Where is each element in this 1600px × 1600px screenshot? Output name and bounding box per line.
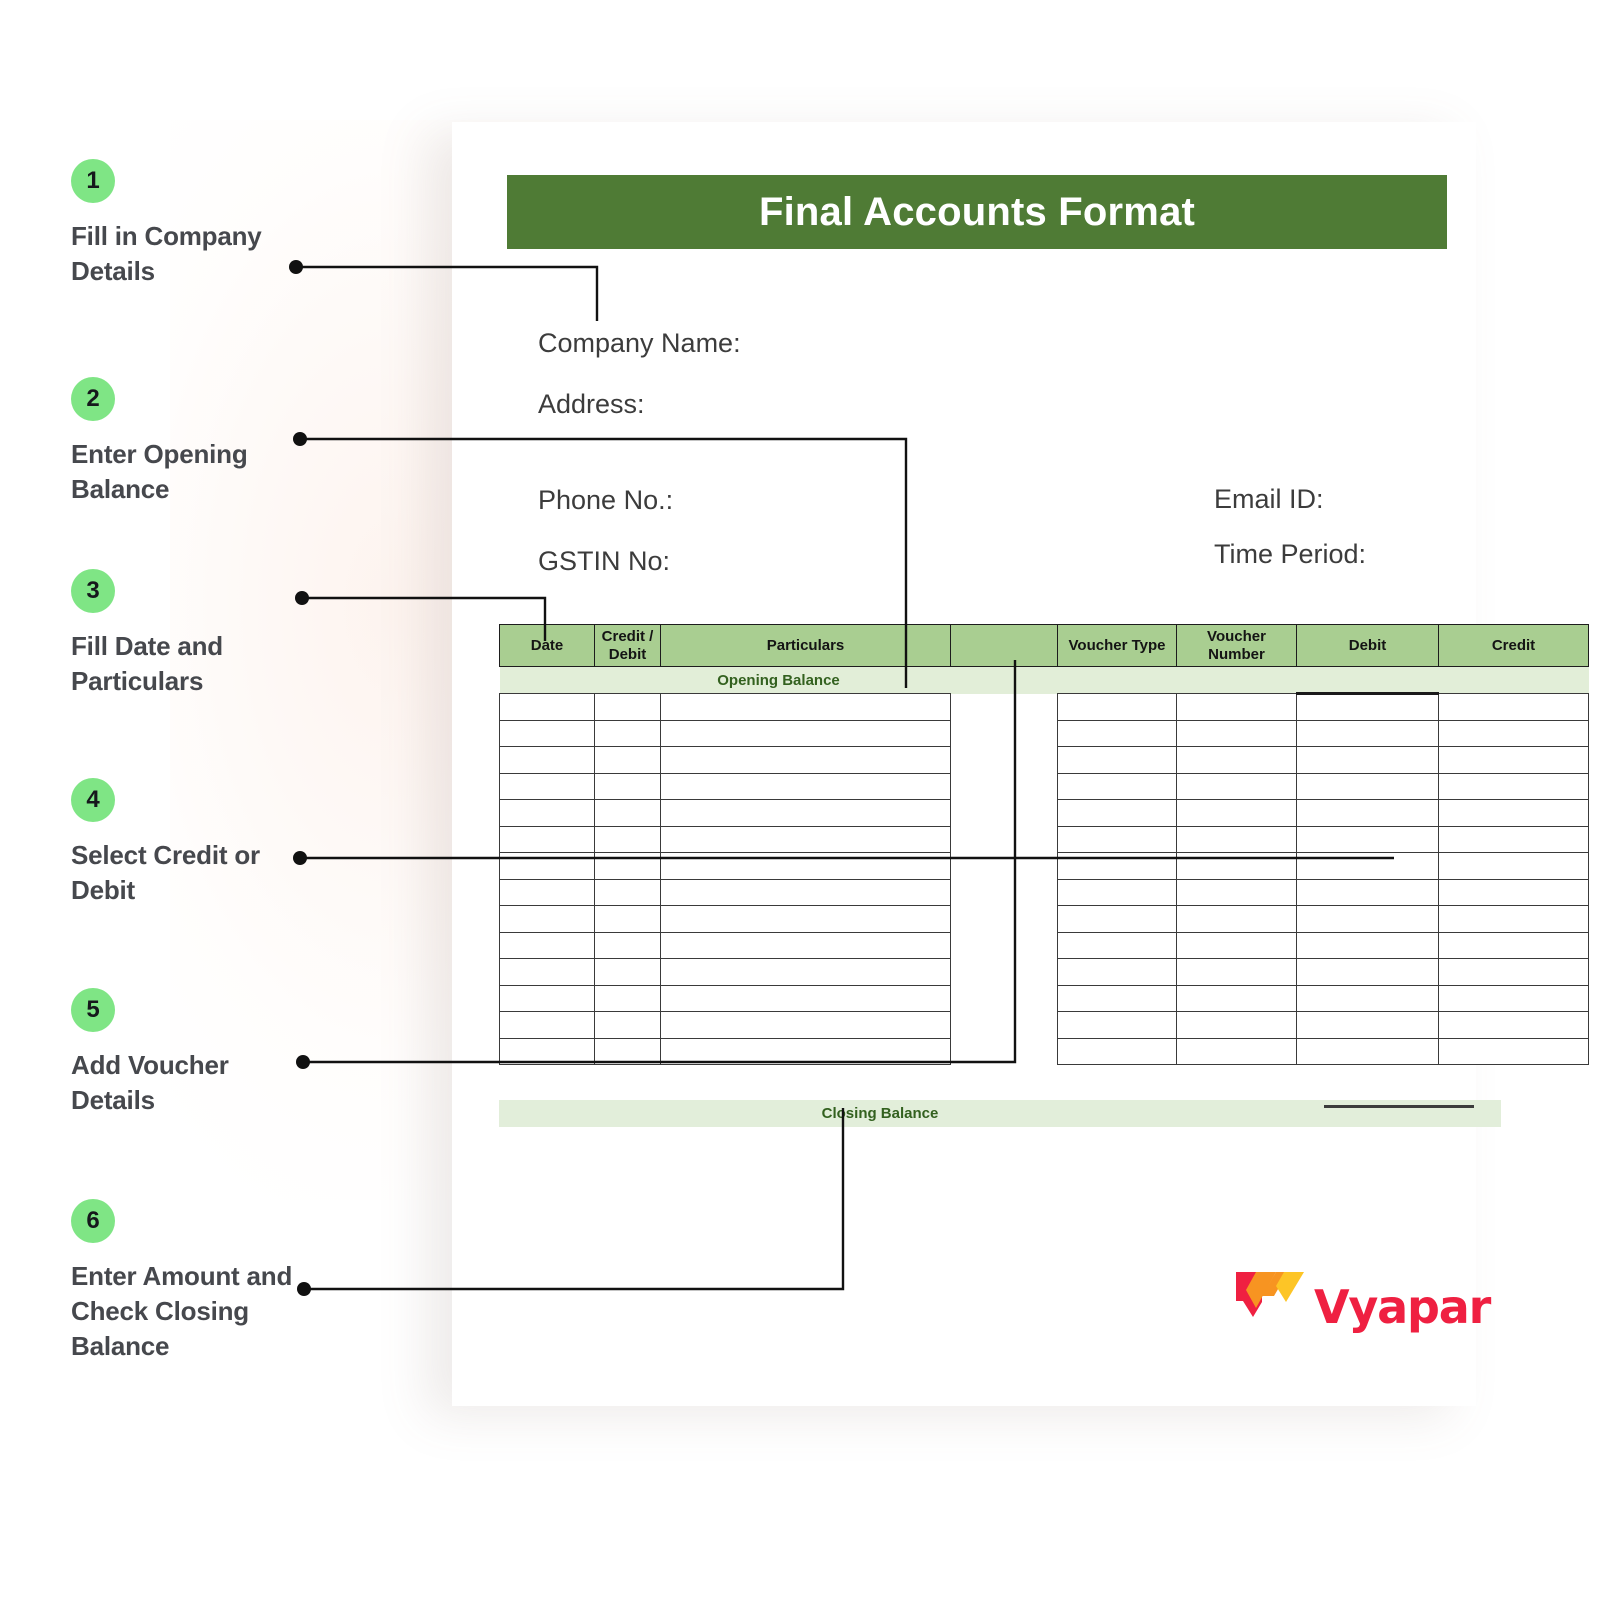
step-label-4: Select Credit or Debit <box>71 838 301 908</box>
cell-voucher-type[interactable] <box>1058 932 1177 959</box>
cell-spacer <box>951 985 1058 1012</box>
cell-voucher-number[interactable] <box>1177 879 1297 906</box>
cell-voucher-type[interactable] <box>1058 747 1177 774</box>
cell-credit[interactable] <box>1439 747 1589 774</box>
cell-credit[interactable] <box>1439 985 1589 1012</box>
step-item-1: 1 Fill in Company Details <box>71 159 371 289</box>
cell-voucher-number[interactable] <box>1177 906 1297 933</box>
table-row <box>500 906 1589 933</box>
step-badge-3: 3 <box>71 569 115 613</box>
cell-voucher-type[interactable] <box>1058 800 1177 827</box>
cell-spacer <box>951 720 1058 747</box>
label-company-name: Company Name: <box>538 328 741 359</box>
cell-date[interactable] <box>500 773 595 800</box>
closing-balance-underline <box>1324 1105 1474 1108</box>
cell-spacer <box>951 932 1058 959</box>
cell-credit[interactable] <box>1439 694 1589 721</box>
column-header-voucher-type: Voucher Type <box>1058 625 1177 667</box>
cell-particulars[interactable] <box>661 959 951 986</box>
label-email-id: Email ID: <box>1214 484 1324 515</box>
cell-voucher-number[interactable] <box>1177 985 1297 1012</box>
cell-credit-debit[interactable] <box>595 932 661 959</box>
cell-spacer <box>951 1038 1058 1065</box>
column-header-credit: Credit <box>1439 625 1589 667</box>
cell-date[interactable] <box>500 879 595 906</box>
label-phone-no: Phone No.: <box>538 485 673 516</box>
table-row <box>500 932 1589 959</box>
ledger-header-row: Date Credit / Debit Particulars Voucher … <box>500 625 1589 667</box>
cell-credit[interactable] <box>1439 879 1589 906</box>
step-label-3: Fill Date and Particulars <box>71 629 301 699</box>
cell-particulars[interactable] <box>661 985 951 1012</box>
column-header-date: Date <box>500 625 595 667</box>
cell-particulars[interactable] <box>661 932 951 959</box>
cell-debit[interactable] <box>1297 879 1439 906</box>
cell-credit-debit[interactable] <box>595 1038 661 1065</box>
cell-spacer <box>951 853 1058 880</box>
cell-credit[interactable] <box>1439 932 1589 959</box>
label-gstin-no: GSTIN No: <box>538 546 670 577</box>
cell-spacer <box>951 826 1058 853</box>
table-row <box>500 985 1589 1012</box>
step-item-6: 6 Enter Amount and Check Closing Balance <box>71 1199 371 1364</box>
cell-voucher-type[interactable] <box>1058 720 1177 747</box>
cell-spacer <box>951 879 1058 906</box>
cell-credit-debit[interactable] <box>595 959 661 986</box>
steps-column: 1 Fill in Company Details 2 Enter Openin… <box>0 0 430 1600</box>
cell-credit-debit[interactable] <box>595 1012 661 1039</box>
cell-particulars[interactable] <box>661 1012 951 1039</box>
cell-debit[interactable] <box>1297 1038 1439 1065</box>
cell-credit-debit[interactable] <box>595 800 661 827</box>
ledger-table: Date Credit / Debit Particulars Voucher … <box>499 624 1589 1065</box>
column-header-spacer <box>951 625 1058 667</box>
cell-date[interactable] <box>500 800 595 827</box>
cell-debit[interactable] <box>1297 932 1439 959</box>
cell-particulars[interactable] <box>661 906 951 933</box>
cell-particulars[interactable] <box>661 1038 951 1065</box>
cell-voucher-number[interactable] <box>1177 853 1297 880</box>
page-title: Final Accounts Format <box>759 190 1195 235</box>
document-title-bar: Final Accounts Format <box>507 175 1447 249</box>
cell-voucher-type[interactable] <box>1058 985 1177 1012</box>
cell-credit-debit[interactable] <box>595 879 661 906</box>
cell-debit[interactable] <box>1297 985 1439 1012</box>
cell-particulars[interactable] <box>661 800 951 827</box>
cell-date[interactable] <box>500 720 595 747</box>
table-row <box>500 826 1589 853</box>
cell-credit[interactable] <box>1439 853 1589 880</box>
cell-spacer <box>951 747 1058 774</box>
cell-credit-debit[interactable] <box>595 853 661 880</box>
cell-spacer <box>951 959 1058 986</box>
cell-voucher-number[interactable] <box>1177 1012 1297 1039</box>
cell-date[interactable] <box>500 985 595 1012</box>
opening-balance-value[interactable] <box>1058 667 1589 694</box>
cell-credit[interactable] <box>1439 1038 1589 1065</box>
cell-credit-debit[interactable] <box>595 985 661 1012</box>
cell-voucher-number[interactable] <box>1177 1038 1297 1065</box>
cell-credit-debit[interactable] <box>595 747 661 774</box>
cell-particulars[interactable] <box>661 694 951 721</box>
cell-debit[interactable] <box>1297 773 1439 800</box>
ledger-table-wrap: Date Credit / Debit Particulars Voucher … <box>499 624 1501 1065</box>
cell-credit-debit[interactable] <box>595 826 661 853</box>
column-header-credit-debit: Credit / Debit <box>595 625 661 667</box>
cell-voucher-type[interactable] <box>1058 826 1177 853</box>
vyapar-wordmark: Vyapar <box>1314 1280 1490 1334</box>
cell-voucher-type[interactable] <box>1058 959 1177 986</box>
cell-voucher-number[interactable] <box>1177 720 1297 747</box>
cell-voucher-number[interactable] <box>1177 959 1297 986</box>
step-item-4: 4 Select Credit or Debit <box>71 778 371 908</box>
cell-debit[interactable] <box>1297 1012 1439 1039</box>
table-row <box>500 1012 1589 1039</box>
ledger-table-head: Date Credit / Debit Particulars Voucher … <box>500 625 1589 694</box>
cell-debit[interactable] <box>1297 747 1439 774</box>
cell-credit[interactable] <box>1439 773 1589 800</box>
step-badge-4: 4 <box>71 778 115 822</box>
step-item-3: 3 Fill Date and Particulars <box>71 569 371 699</box>
label-address: Address: <box>538 389 645 420</box>
step-label-5: Add Voucher Details <box>71 1048 301 1118</box>
ledger-table-body <box>500 694 1589 1065</box>
table-row <box>500 694 1589 721</box>
cell-credit[interactable] <box>1439 826 1589 853</box>
cell-debit[interactable] <box>1297 959 1439 986</box>
cell-spacer <box>951 694 1058 721</box>
cell-debit[interactable] <box>1297 800 1439 827</box>
document-page: Final Accounts Format Company Name: Addr… <box>452 122 1476 1406</box>
cell-voucher-number[interactable] <box>1177 773 1297 800</box>
cell-date[interactable] <box>500 959 595 986</box>
cell-credit-debit[interactable] <box>595 906 661 933</box>
cell-date[interactable] <box>500 932 595 959</box>
cell-voucher-type[interactable] <box>1058 1012 1177 1039</box>
step-badge-1: 1 <box>71 159 115 203</box>
vyapar-mark-icon <box>1232 1268 1312 1334</box>
cell-credit[interactable] <box>1439 1012 1589 1039</box>
step-label-1: Fill in Company Details <box>71 219 301 289</box>
cell-date[interactable] <box>500 853 595 880</box>
cell-credit[interactable] <box>1439 720 1589 747</box>
cell-date[interactable] <box>500 694 595 721</box>
cell-voucher-type[interactable] <box>1058 906 1177 933</box>
cell-credit-debit[interactable] <box>595 720 661 747</box>
cell-debit[interactable] <box>1297 826 1439 853</box>
closing-balance-label: Closing Balance <box>822 1105 939 1122</box>
cell-date[interactable] <box>500 1038 595 1065</box>
table-row <box>500 959 1589 986</box>
cell-particulars[interactable] <box>661 826 951 853</box>
table-row <box>500 800 1589 827</box>
cell-particulars[interactable] <box>661 720 951 747</box>
step-badge-6: 6 <box>71 1199 115 1243</box>
cell-credit[interactable] <box>1439 959 1589 986</box>
step-label-6: Enter Amount and Check Closing Balance <box>71 1259 301 1364</box>
cell-credit-debit[interactable] <box>595 773 661 800</box>
opening-balance-row: Opening Balance <box>500 667 1589 694</box>
cell-spacer <box>951 1012 1058 1039</box>
cell-spacer <box>951 906 1058 933</box>
cell-credit[interactable] <box>1439 800 1589 827</box>
cell-date[interactable] <box>500 1012 595 1039</box>
cell-date[interactable] <box>500 906 595 933</box>
cell-voucher-number[interactable] <box>1177 826 1297 853</box>
opening-balance-label: Opening Balance <box>500 667 1058 694</box>
cell-debit[interactable] <box>1297 853 1439 880</box>
table-row <box>500 747 1589 774</box>
label-time-period: Time Period: <box>1214 539 1366 570</box>
cell-date[interactable] <box>500 826 595 853</box>
cell-spacer <box>951 773 1058 800</box>
cell-debit[interactable] <box>1297 720 1439 747</box>
cell-particulars[interactable] <box>661 773 951 800</box>
cell-voucher-type[interactable] <box>1058 879 1177 906</box>
cell-date[interactable] <box>500 747 595 774</box>
screenshot-root: 1 Fill in Company Details 2 Enter Openin… <box>0 0 1600 1600</box>
vyapar-logo: Vyapar <box>1232 1268 1448 1340</box>
cell-voucher-number[interactable] <box>1177 932 1297 959</box>
cell-credit-debit[interactable] <box>595 694 661 721</box>
table-row <box>500 1038 1589 1065</box>
cell-voucher-number[interactable] <box>1177 747 1297 774</box>
cell-spacer <box>951 800 1058 827</box>
cell-voucher-type[interactable] <box>1058 694 1177 721</box>
step-item-2: 2 Enter Opening Balance <box>71 377 371 507</box>
cell-debit[interactable] <box>1297 694 1439 721</box>
cell-credit[interactable] <box>1439 906 1589 933</box>
table-row <box>500 853 1589 880</box>
cell-debit[interactable] <box>1297 906 1439 933</box>
step-label-2: Enter Opening Balance <box>71 437 301 507</box>
table-row <box>500 773 1589 800</box>
column-header-voucher-number: Voucher Number <box>1177 625 1297 667</box>
step-badge-5: 5 <box>71 988 115 1032</box>
cell-voucher-type[interactable] <box>1058 1038 1177 1065</box>
step-badge-2: 2 <box>71 377 115 421</box>
table-row <box>500 879 1589 906</box>
cell-voucher-type[interactable] <box>1058 853 1177 880</box>
cell-particulars[interactable] <box>661 747 951 774</box>
step-item-5: 5 Add Voucher Details <box>71 988 371 1118</box>
cell-particulars[interactable] <box>661 879 951 906</box>
cell-voucher-number[interactable] <box>1177 694 1297 721</box>
table-row <box>500 720 1589 747</box>
cell-voucher-number[interactable] <box>1177 800 1297 827</box>
column-header-debit: Debit <box>1297 625 1439 667</box>
column-header-particulars: Particulars <box>661 625 951 667</box>
cell-voucher-type[interactable] <box>1058 773 1177 800</box>
cell-particulars[interactable] <box>661 853 951 880</box>
